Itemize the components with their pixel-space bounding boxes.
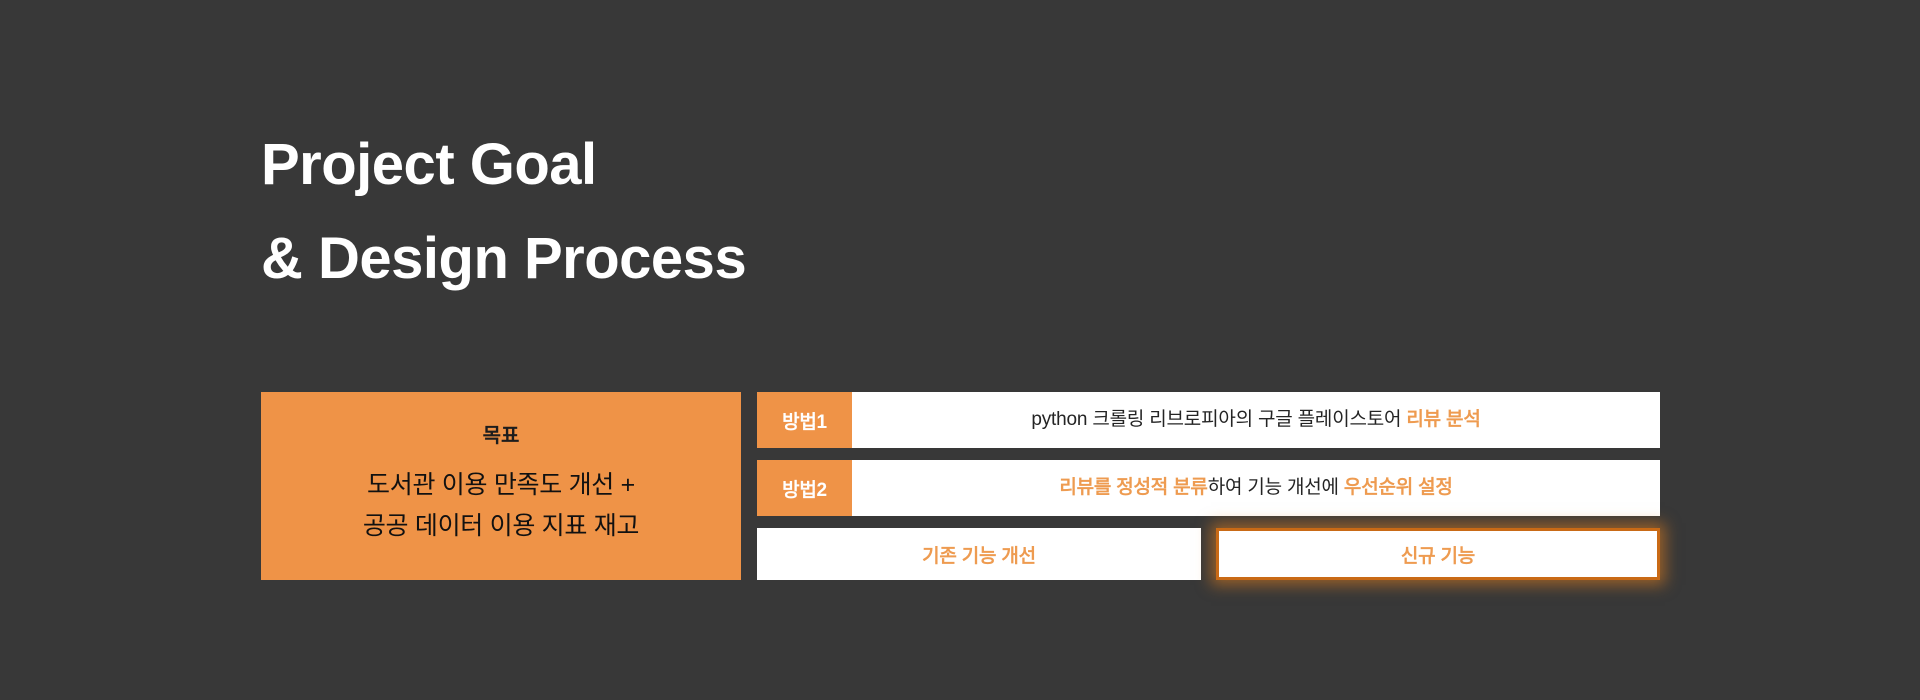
method-body-2: 리뷰를 정성적 분류하여 기능 개선에 우선순위 설정	[852, 460, 1660, 516]
outcome-row: 기존 기능 개선 신규 기능	[757, 528, 1660, 580]
method-1-plain-1: python 크롤링 리브로피아의 구글 플레이스토어	[1031, 409, 1406, 430]
method-tab-2: 방법2	[757, 460, 852, 516]
method-2-plain-2: 하여 기능 개선에	[1208, 477, 1344, 498]
method-row-1: 방법1 python 크롤링 리브로피아의 구글 플레이스토어 리뷰 분석	[757, 392, 1660, 448]
method-2-highlight-2: 우선순위 설정	[1344, 477, 1453, 498]
outcome-label-existing: 기존 기능 개선	[922, 541, 1036, 568]
process-diagram: 목표 도서관 이용 만족도 개선 + 공공 데이터 이용 지표 재고 방법1 p…	[261, 392, 1660, 580]
title-line-2: & Design Process	[261, 212, 1161, 306]
method-text-2: 리뷰를 정성적 분류하여 기능 개선에 우선순위 설정	[1059, 476, 1452, 501]
method-text-1: python 크롤링 리브로피아의 구글 플레이스토어 리뷰 분석	[1031, 408, 1480, 433]
goal-statement: 도서관 이용 만족도 개선 + 공공 데이터 이용 지표 재고	[363, 470, 639, 542]
goal-panel: 목표 도서관 이용 만족도 개선 + 공공 데이터 이용 지표 재고	[261, 392, 741, 580]
method-2-highlight-1: 리뷰를 정성적 분류	[1059, 477, 1207, 498]
page-title: Project Goal & Design Process	[261, 118, 1161, 306]
method-column: 방법1 python 크롤링 리브로피아의 구글 플레이스토어 리뷰 분석 방법…	[757, 392, 1660, 580]
method-tab-1: 방법1	[757, 392, 852, 448]
outcome-box-new: 신규 기능	[1216, 528, 1660, 580]
outcome-box-existing: 기존 기능 개선	[757, 528, 1201, 580]
outcome-label-new: 신규 기능	[1401, 541, 1475, 568]
method-1-highlight-1: 리뷰 분석	[1406, 409, 1480, 430]
slide-root: Project Goal & Design Process 목표 도서관 이용 …	[0, 0, 1920, 700]
method-row-2: 방법2 리뷰를 정성적 분류하여 기능 개선에 우선순위 설정	[757, 460, 1660, 516]
title-line-1: Project Goal	[261, 118, 1161, 212]
method-body-1: python 크롤링 리브로피아의 구글 플레이스토어 리뷰 분석	[852, 392, 1660, 448]
goal-line-1: 도서관 이용 만족도 개선 +	[367, 470, 635, 501]
goal-line-2: 공공 데이터 이용 지표 재고	[363, 511, 639, 542]
goal-label: 목표	[483, 424, 520, 448]
